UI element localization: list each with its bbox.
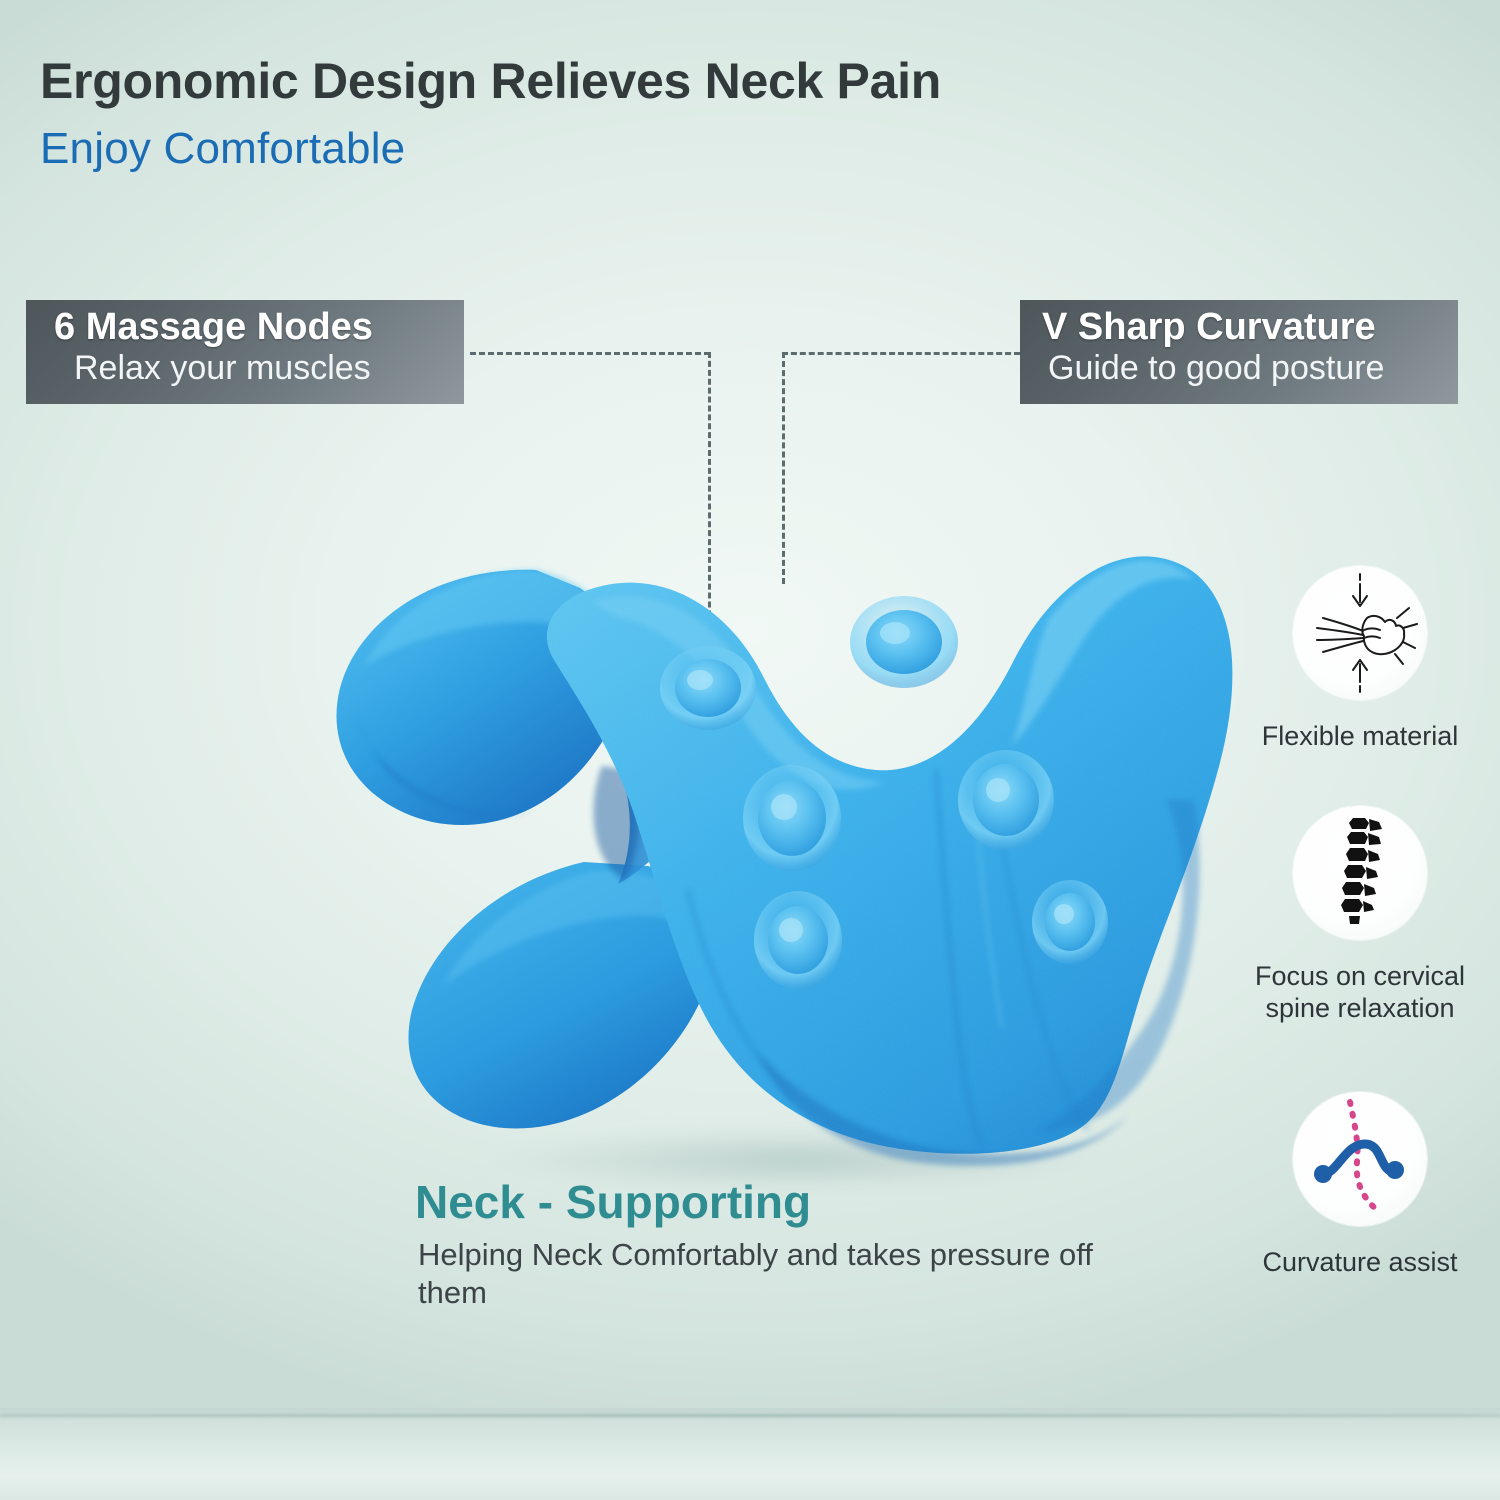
massage-node-2	[850, 596, 958, 688]
feature-curvature-assist: Curvature assist	[1246, 1092, 1474, 1278]
callout-v-sharp-curvature: V Sharp Curvature Guide to good posture	[1020, 300, 1458, 404]
page-subtitle: Enjoy Comfortable	[40, 124, 405, 174]
feature-label-flexible-material: Flexible material	[1246, 720, 1474, 752]
feature-cervical-spine: Focus on cervical spine relaxation	[1246, 806, 1474, 1025]
feature-flexible-material: Flexible material	[1246, 566, 1474, 752]
neck-supporting-description: Helping Neck Comfortably and takes press…	[418, 1236, 1118, 1312]
neck-supporting-heading: Neck - Supporting	[415, 1175, 811, 1229]
massage-node-4	[743, 765, 841, 871]
flexible-material-icon	[1293, 566, 1427, 700]
page-title: Ergonomic Design Relieves Neck Pain	[40, 52, 941, 110]
callout-massage-nodes-title: 6 Massage Nodes	[40, 308, 450, 348]
massage-node-1	[660, 646, 756, 730]
callout-massage-nodes: 6 Massage Nodes Relax your muscles	[26, 300, 464, 404]
callout-v-sharp-curvature-title: V Sharp Curvature	[1034, 308, 1444, 348]
callout-massage-nodes-subtitle: Relax your muscles	[40, 350, 450, 387]
curvature-assist-icon	[1293, 1092, 1427, 1226]
product-infographic: Ergonomic Design Relieves Neck Pain Enjo…	[0, 0, 1500, 1500]
massage-node-5	[1032, 880, 1108, 964]
cervical-spine-icon	[1293, 806, 1427, 940]
massage-node-6	[754, 891, 842, 989]
callout-v-sharp-curvature-subtitle: Guide to good posture	[1034, 350, 1444, 387]
horizon-line	[0, 1414, 1500, 1417]
feature-label-curvature-assist: Curvature assist	[1246, 1246, 1474, 1278]
floor-gradient	[0, 1408, 1500, 1500]
massage-node-3	[958, 750, 1054, 850]
feature-label-cervical-spine: Focus on cervical spine relaxation	[1246, 960, 1474, 1025]
product-image	[236, 470, 1246, 1190]
